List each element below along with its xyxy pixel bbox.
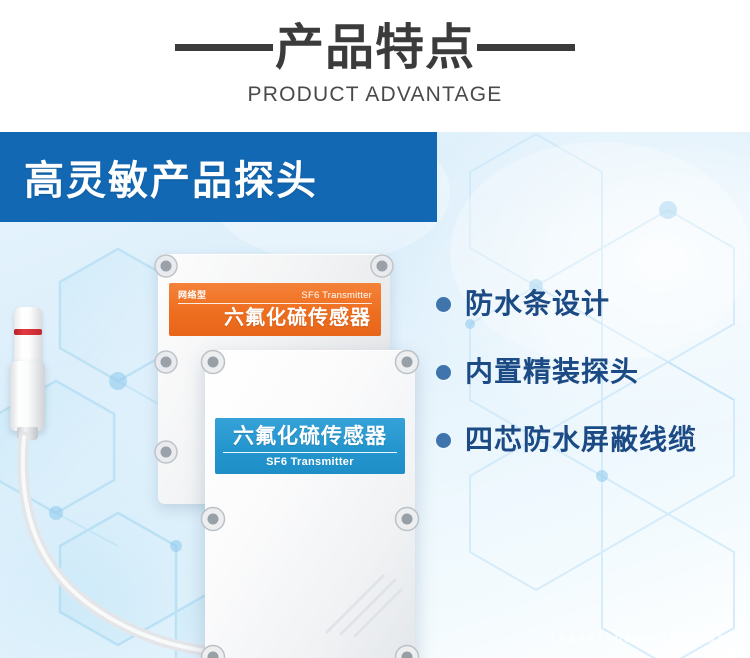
page-subtitle: PRODUCT ADVANTAGE bbox=[0, 83, 750, 107]
title-rule-right bbox=[477, 44, 575, 51]
product-scene: 高灵敏产品探头 bbox=[0, 132, 750, 658]
back-label-header-row: 网络型 SF6 Transmitter bbox=[178, 288, 372, 304]
back-unit-label: 网络型 SF6 Transmitter 六氟化硫传感器 bbox=[169, 283, 381, 336]
front-label-model-en: SF6 Transmitter bbox=[223, 453, 397, 468]
sensor-probe bbox=[6, 307, 48, 447]
feature-item: 内置精装探头 bbox=[436, 352, 750, 392]
feature-label: 防水条设计 bbox=[465, 290, 610, 318]
probe-cable-neck bbox=[17, 427, 38, 440]
feature-item: 四芯防水屏蔽线缆 bbox=[436, 420, 750, 460]
header-title-row: 产品特点 bbox=[0, 22, 750, 73]
page-header: 产品特点 PRODUCT ADVANTAGE bbox=[0, 0, 750, 132]
back-label-model-en: SF6 Transmitter bbox=[301, 290, 372, 301]
bullet-dot-icon bbox=[436, 297, 451, 312]
enclosure-vent-grooves bbox=[321, 568, 405, 638]
page-title: 产品特点 bbox=[275, 22, 475, 73]
back-label-product-name: 六氟化硫传感器 bbox=[178, 304, 372, 331]
front-label-product-name: 六氟化硫传感器 bbox=[223, 423, 397, 453]
probe-body bbox=[10, 361, 45, 431]
feature-item: 防水条设计 bbox=[436, 284, 750, 324]
bullet-dot-icon bbox=[436, 433, 451, 448]
banner-title: 高灵敏产品探头 bbox=[24, 148, 318, 206]
title-rule-left bbox=[175, 44, 273, 51]
front-unit-label: 六氟化硫传感器 SF6 Transmitter bbox=[215, 418, 405, 474]
back-label-type-tag: 网络型 bbox=[178, 288, 207, 301]
feature-label: 内置精装探头 bbox=[465, 358, 639, 386]
probe-red-ring bbox=[14, 329, 42, 335]
section-banner: 高灵敏产品探头 bbox=[0, 132, 437, 222]
feature-label: 四芯防水屏蔽线缆 bbox=[465, 426, 697, 454]
feature-list: 防水条设计 内置精装探头 四芯防水屏蔽线缆 bbox=[436, 284, 750, 488]
bullet-dot-icon bbox=[436, 365, 451, 380]
watermark: traveltheworld-diary.c bbox=[549, 631, 750, 646]
sensor-enclosure-front: 六氟化硫传感器 SF6 Transmitter bbox=[205, 350, 415, 658]
probe-cap bbox=[14, 307, 42, 363]
product-advantage-page: 产品特点 PRODUCT ADVANTAGE bbox=[0, 0, 750, 658]
